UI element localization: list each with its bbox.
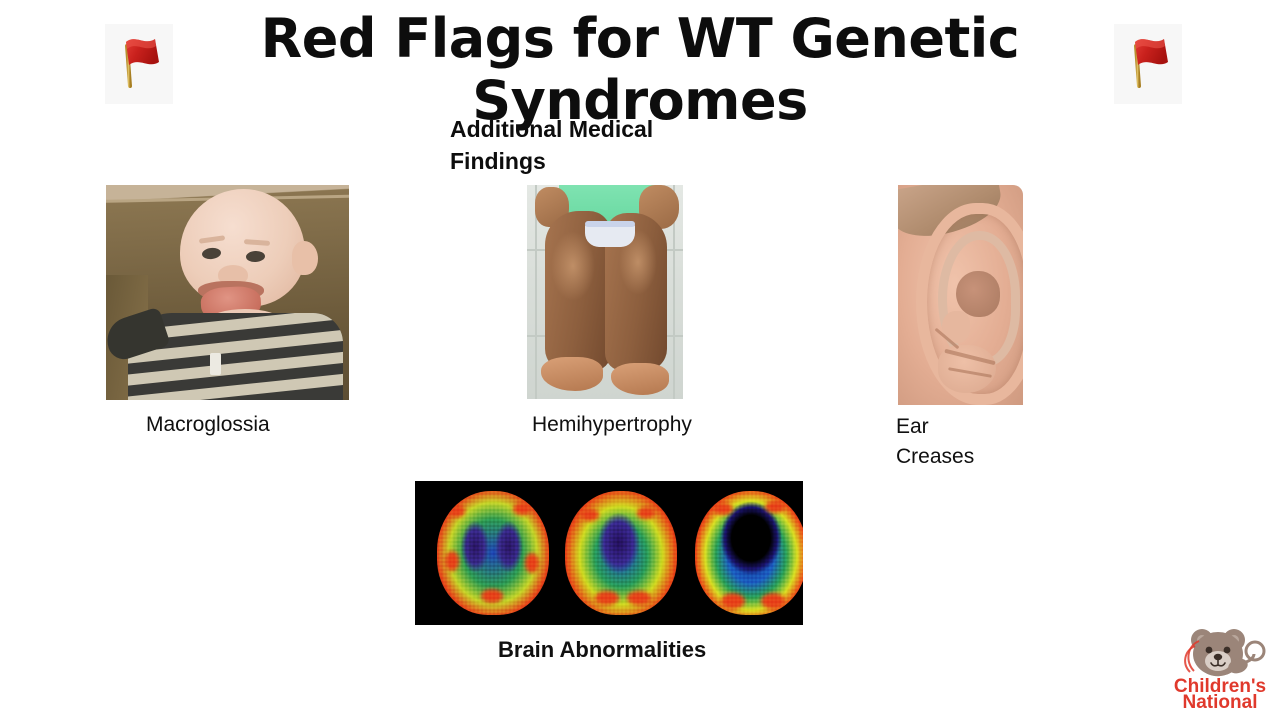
- caption-brain-abnormalities: Brain Abnormalities: [498, 634, 728, 666]
- caption-hemihypertrophy: Hemihypertrophy: [532, 410, 762, 440]
- bear-icon: [1185, 629, 1264, 676]
- asymmetric-legs-photo: [527, 185, 683, 399]
- logo-text-line-2: National: [1183, 692, 1258, 712]
- child-diaper-band: [585, 221, 635, 227]
- ear-closeup-photo: [898, 185, 1023, 405]
- axial-brain-pet-scan-photo: [415, 481, 803, 625]
- brain-slice-1: [437, 491, 549, 615]
- childrens-national-logo: Children's National: [1168, 624, 1272, 712]
- brain-slice-3: [695, 491, 803, 615]
- infant-with-protruding-tongue-photo: [106, 185, 349, 400]
- brain-slice-2: [565, 491, 677, 615]
- slide-canvas: Red Flags for WT Genetic Syndromes Addit…: [0, 0, 1280, 720]
- caption-macroglossia: Macroglossia: [146, 410, 276, 440]
- infant-ear: [292, 241, 318, 275]
- red-flag-icon-right: [1114, 24, 1182, 104]
- section-subtitle: Additional Medical Findings: [450, 113, 700, 177]
- ear-concha: [956, 271, 1000, 317]
- sweater-snap: [210, 353, 221, 375]
- caption-ear-creases: Ear Creases: [896, 412, 1006, 472]
- red-flag-icon-left: [105, 24, 173, 104]
